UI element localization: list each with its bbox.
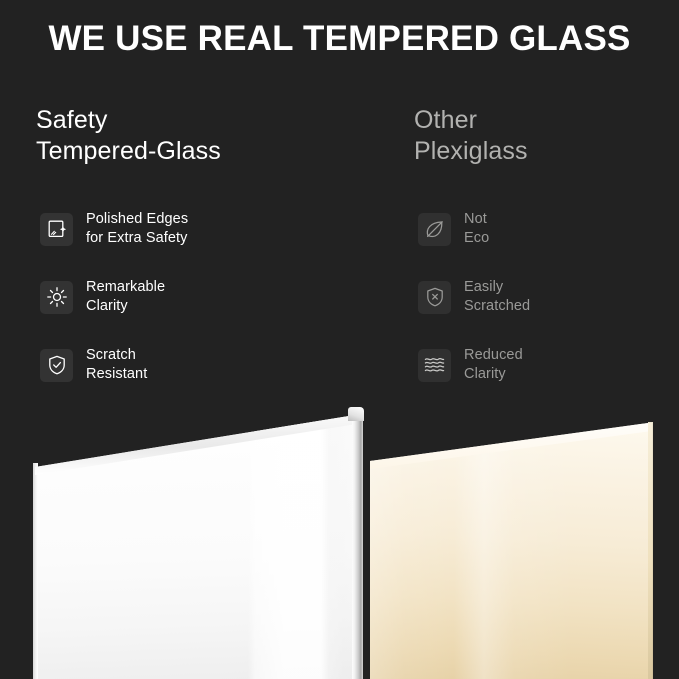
feature-text: Easily Scratched	[464, 278, 530, 316]
sun-brightness-icon	[40, 281, 73, 314]
feature-text-line1: Easily	[464, 278, 530, 297]
infographic-canvas: WE USE REAL TEMPERED GLASS Safety Temper…	[0, 0, 679, 679]
column-title-right-line1: Other	[414, 105, 679, 136]
feature-text-line2: Resistant	[86, 365, 147, 384]
feature-text-line2: Clarity	[86, 297, 165, 316]
column-plexiglass: Other Plexiglass Not Eco	[414, 105, 679, 167]
plexiglass-side-edge	[648, 422, 653, 679]
feature-text: Polished Edges for Extra Safety	[86, 210, 188, 248]
feature-list-right: Not Eco Easily Scratched	[418, 207, 530, 387]
leaf-crossed-out-icon	[418, 213, 451, 246]
page-title: WE USE REAL TEMPERED GLASS	[0, 17, 679, 61]
product-photo-area	[0, 395, 679, 679]
polished-glass-panel-sparkle-icon	[40, 213, 73, 246]
feature-text-line2: for Extra Safety	[86, 229, 188, 248]
feature-item: Not Eco	[418, 207, 530, 251]
feature-text-line2: Eco	[464, 229, 489, 248]
shield-check-icon	[40, 349, 73, 382]
feature-item: Remarkable Clarity	[40, 275, 188, 319]
feature-item: Easily Scratched	[418, 275, 530, 319]
feature-item: Polished Edges for Extra Safety	[40, 207, 188, 251]
feature-text-line1: Not	[464, 210, 489, 229]
feature-text-line1: Reduced	[464, 346, 523, 365]
feature-item: Scratch Resistant	[40, 343, 188, 387]
column-tempered-glass: Safety Tempered-Glass Polished Edges for…	[36, 105, 396, 167]
feature-text-line1: Remarkable	[86, 278, 165, 297]
feature-text: Reduced Clarity	[464, 346, 523, 384]
shield-x-icon	[418, 281, 451, 314]
feature-text: Scratch Resistant	[86, 346, 147, 384]
column-title-left-line2: Tempered-Glass	[36, 136, 396, 167]
column-title-right-line2: Plexiglass	[414, 136, 679, 167]
column-title-right: Other Plexiglass	[414, 105, 679, 167]
feature-text: Remarkable Clarity	[86, 278, 165, 316]
feature-text-line2: Clarity	[464, 365, 523, 384]
glass-left-edge	[33, 463, 38, 679]
feature-text-line1: Polished Edges	[86, 210, 188, 229]
column-title-left-line1: Safety	[36, 105, 396, 136]
feature-text-line2: Scratched	[464, 297, 530, 316]
feature-text: Not Eco	[464, 210, 489, 248]
feature-text-line1: Scratch	[86, 346, 147, 365]
column-title-left: Safety Tempered-Glass	[36, 105, 396, 167]
wavy-distortion-lines-icon	[418, 349, 451, 382]
feature-list-left: Polished Edges for Extra Safety Remarkab…	[40, 207, 188, 387]
glass-side-edge	[352, 411, 363, 679]
glass-corner-bevel	[348, 407, 364, 421]
feature-item: Reduced Clarity	[418, 343, 530, 387]
